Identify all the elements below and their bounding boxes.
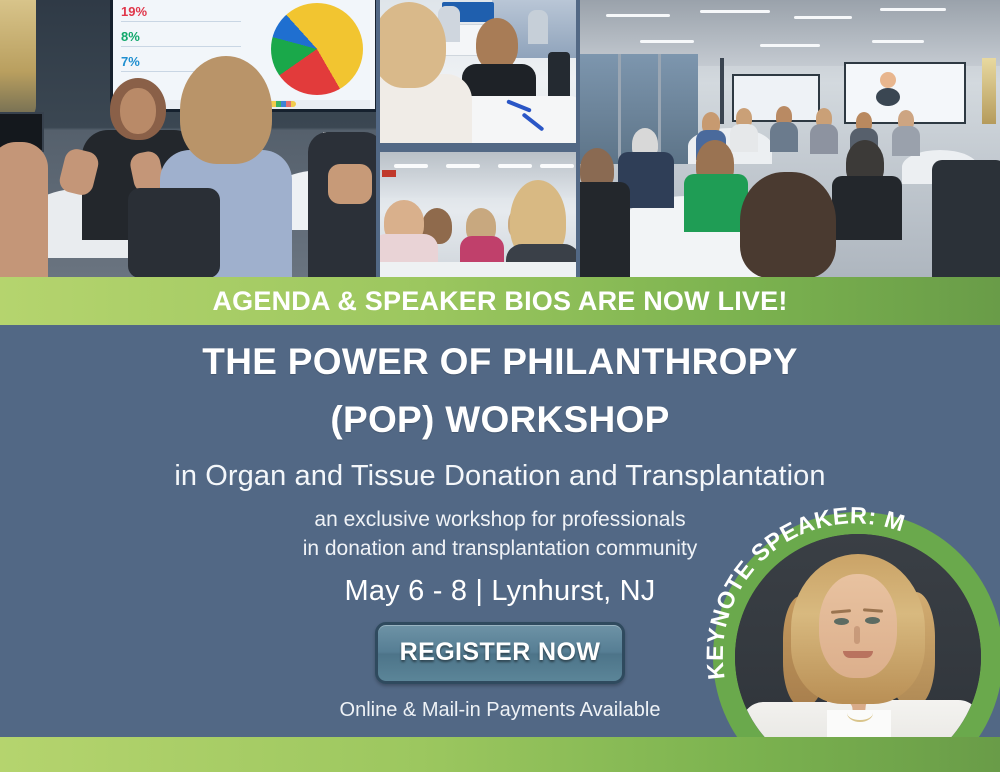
photo-group-round-table [380, 152, 576, 277]
photo-collage: 19% 8% 7% [0, 0, 1000, 277]
keynote-speaker-badge[interactable]: KEYNOTE SPEAKER: MELANIE CURTIS [713, 512, 1000, 772]
register-now-button[interactable]: REGISTER NOW [375, 622, 625, 684]
collage-column-middle [380, 0, 576, 277]
page-subtitle: in Organ and Tissue Donation and Transpl… [0, 460, 1000, 493]
event-promo-banner: 19% 8% 7% [0, 0, 1000, 772]
page-title-line1: THE POWER OF PHILANTHROPY [0, 343, 1000, 380]
bottom-accent-bar [0, 737, 1000, 772]
photo-large-conference-room [580, 0, 1000, 277]
announcement-text: AGENDA & SPEAKER BIOS ARE NOW LIVE! [212, 286, 787, 317]
photo-two-attendees [380, 0, 576, 143]
event-description-line1: an exclusive workshop for professionals [314, 508, 685, 531]
announcement-bar: AGENDA & SPEAKER BIOS ARE NOW LIVE! [0, 277, 1000, 325]
collage-column-right [580, 0, 1000, 277]
page-title-line2: (POP) WORKSHOP [0, 401, 1000, 438]
collage-column-left: 19% 8% 7% [0, 0, 376, 277]
photo-conference-discussion: 19% 8% 7% [0, 0, 376, 277]
